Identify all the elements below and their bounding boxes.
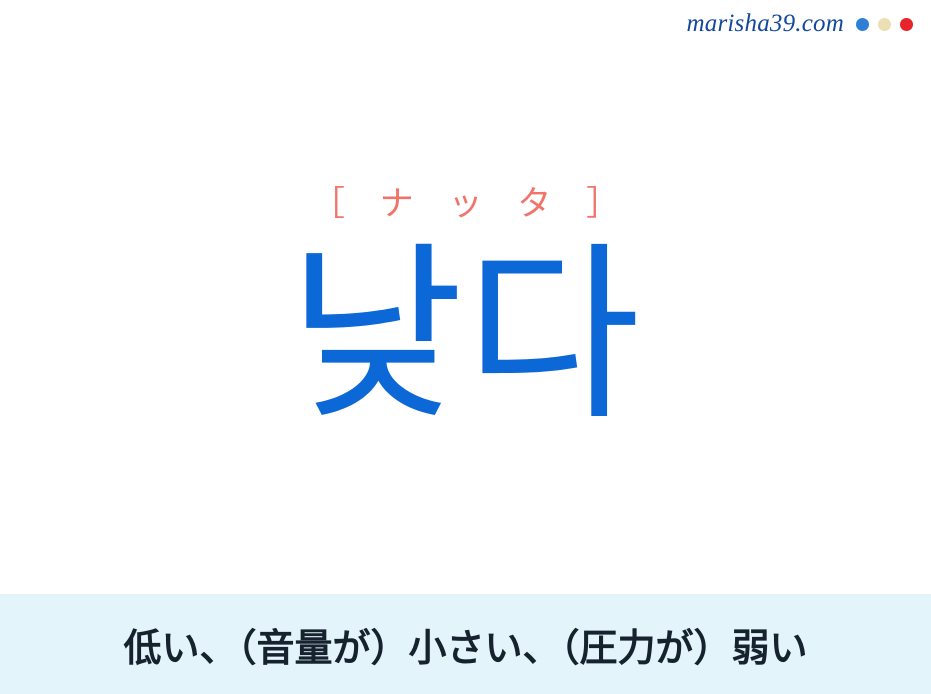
- katakana-reading: ［ ナ ッ タ ］: [0, 176, 931, 225]
- japanese-meaning: 低い、（音量が）小さい、（圧力が）弱い: [123, 617, 807, 672]
- korean-word: 낮다: [0, 236, 931, 436]
- meaning-bar: 低い、（音量が）小さい、（圧力が）弱い: [0, 594, 931, 694]
- vocabulary-card-page: marisha39.com ［ ナ ッ タ ］ 낮다 低い、（音量が）小さい、（…: [0, 0, 931, 694]
- card-content: ［ ナ ッ タ ］ 낮다 低い、（音量が）小さい、（圧力が）弱い: [0, 0, 931, 694]
